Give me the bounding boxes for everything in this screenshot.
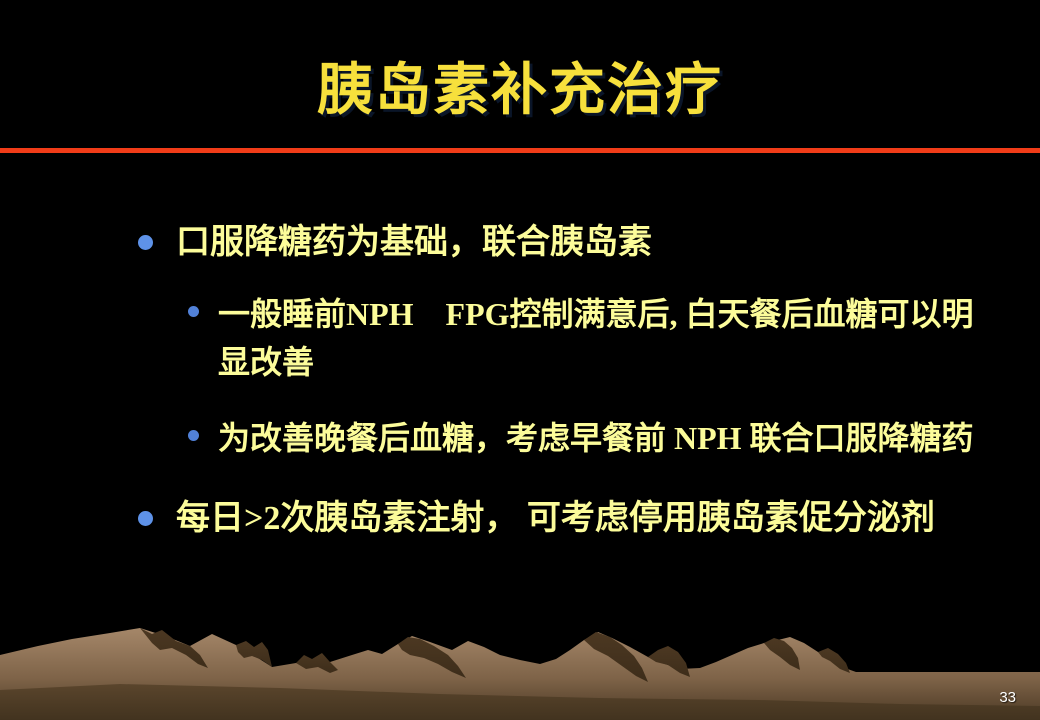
- spacer: [0, 472, 1040, 494]
- mountain-facet-shadow-7: [764, 638, 800, 670]
- mountain-facet-shadow-8: [818, 648, 850, 673]
- bullet-item-4: 每日>2次胰岛素注射， 可考虑停用胰岛素促分泌剂: [0, 494, 1040, 544]
- bullet-disc-icon: [188, 430, 199, 441]
- page-number: 33: [999, 689, 1016, 706]
- mountain-facet-shadow-3: [296, 653, 338, 673]
- mountain-facet-shadow-4: [398, 637, 466, 678]
- title-bar: 胰岛素补充治疗: [0, 0, 1040, 150]
- bullet-disc-icon: [138, 235, 153, 250]
- page-title: 胰岛素补充治疗: [0, 63, 1040, 119]
- mountain-facet-shadow-2: [236, 641, 272, 667]
- bullet-item-3: 为改善晚餐后血糖，考虑早餐前 NPH 联合口服降糖药: [0, 414, 1040, 462]
- bullet-item-1: 口服降糖药为基础，联合胰岛素: [0, 218, 1040, 268]
- mountain-facet-shadow-6: [648, 646, 690, 677]
- bullet-item-2-text: 一般睡前NPH FPG控制满意后, 白天餐后血糖可以明显改善: [218, 290, 988, 386]
- title-divider-rule: [0, 148, 1040, 153]
- bullet-item-3-text: 为改善晚餐后血糖，考虑早餐前 NPH 联合口服降糖药: [218, 414, 974, 462]
- bullet-disc-icon: [138, 511, 153, 526]
- presentation-slide: 胰岛素补充治疗 口服降糖药为基础，联合胰岛素 一般睡前NPH FPG控制满意后,…: [0, 0, 1040, 720]
- foreground-ground: [0, 684, 1040, 720]
- mountain-facet-shadow-5: [584, 632, 648, 682]
- mountain-ridge-light: [0, 628, 1040, 720]
- bullet-item-2: 一般睡前NPH FPG控制满意后, 白天餐后血糖可以明显改善: [0, 290, 1040, 386]
- bullet-disc-icon: [188, 306, 199, 317]
- bullet-item-4-text: 每日>2次胰岛素注射， 可考虑停用胰岛素促分泌剂: [176, 494, 935, 544]
- spacer: [0, 276, 1040, 290]
- bullet-item-1-text: 口服降糖药为基础，联合胰岛素: [176, 218, 652, 268]
- slide-body: 口服降糖药为基础，联合胰岛素 一般睡前NPH FPG控制满意后, 白天餐后血糖可…: [0, 218, 1040, 552]
- spacer: [0, 396, 1040, 414]
- mountain-facet-shadow-1: [140, 628, 208, 668]
